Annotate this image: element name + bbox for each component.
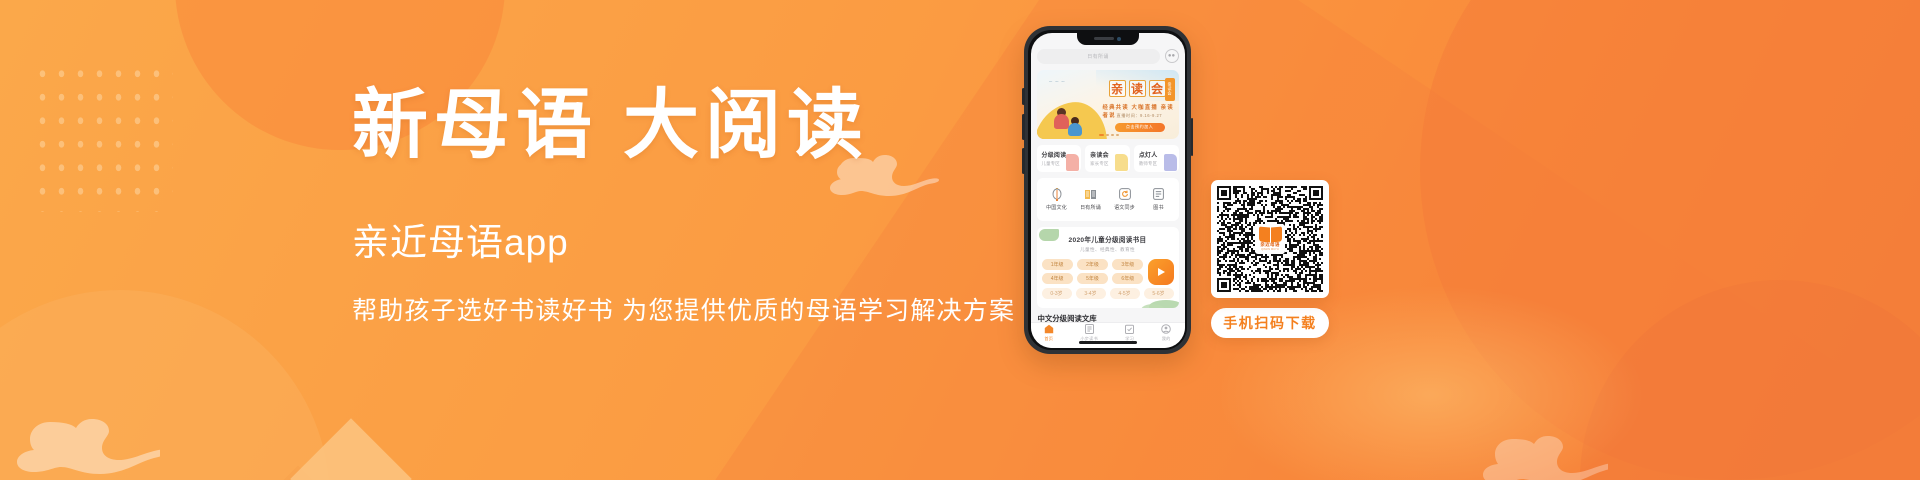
- phone-volume-up-button: [1022, 114, 1025, 140]
- phone-mockup: 日有所诵 ●● ∼∼∼ 亲 读: [1024, 26, 1191, 354]
- open-book-logo-icon: [1259, 227, 1282, 242]
- phone-volume-down-button: [1022, 148, 1025, 174]
- message-icon[interactable]: ●●: [1165, 49, 1179, 63]
- dot-grid-decoration: [33, 62, 173, 212]
- book-red-icon: [1066, 154, 1079, 171]
- play-video-icon[interactable]: [1148, 259, 1174, 285]
- quick-icon-row: 中国文化 日有所诵 语文同步: [1037, 178, 1179, 221]
- promo-title: 亲 读 会: [1109, 80, 1166, 97]
- refresh-square-icon: [1118, 187, 1132, 201]
- brand-name-cn: 亲近母语: [1260, 243, 1280, 248]
- search-input[interactable]: 日有所诵: [1037, 49, 1160, 64]
- age-tag[interactable]: 4-5岁: [1110, 288, 1140, 299]
- booklist-subtitle: 儿童性、经典性、教育性: [1042, 247, 1174, 253]
- promo-banner: 新母语 大阅读 亲近母语app 帮助孩子选好书读好书 为您提供优质的母语学习解决…: [0, 0, 1920, 480]
- lantern-icon: [1050, 187, 1064, 201]
- app-search-row: 日有所诵 ●●: [1037, 49, 1179, 64]
- phone-notch: [1077, 33, 1139, 45]
- home-icon: [1044, 324, 1054, 334]
- promo-side-tag: 亲读会: [1165, 78, 1175, 101]
- book-yellow-icon: [1115, 154, 1128, 171]
- entry-card[interactable]: 亲读会 家长专区: [1085, 145, 1130, 172]
- home-indicator: [1079, 341, 1137, 344]
- phone-screen: 日有所诵 ●● ∼∼∼ 亲 读: [1031, 33, 1185, 348]
- promo-title-char: 亲: [1109, 80, 1126, 97]
- quick-icon-item[interactable]: 中国文化: [1040, 187, 1074, 211]
- grade-tag[interactable]: 6年级: [1112, 273, 1143, 284]
- promo-title-char: 会: [1149, 80, 1166, 97]
- qr-code[interactable]: 亲近母语 QINJIN MUYU: [1211, 180, 1329, 298]
- tab-home[interactable]: 首页: [1044, 324, 1054, 342]
- cloud-decoration-icon: [1478, 434, 1608, 480]
- carousel-dots[interactable]: [1099, 134, 1119, 136]
- hero-copy: 新母语 大阅读 亲近母语app 帮助孩子选好书读好书 为您提供优质的母语学习解决…: [352, 88, 1012, 324]
- tab-label: 我的: [1162, 336, 1171, 342]
- open-book-icon: [1084, 187, 1098, 201]
- download-button[interactable]: 手机扫码下载: [1211, 308, 1329, 338]
- booklist-card: 2020年儿童分级阅读书目 儿童性、经典性、教育性 1年级 2年级 3年级 4年…: [1037, 227, 1179, 309]
- promo-join-button[interactable]: 点击预约加入: [1115, 123, 1165, 132]
- brand-logo: 亲近母语 QINJIN MUYU: [1255, 224, 1285, 254]
- promo-date: 直播时间：9.16-9.27: [1117, 113, 1163, 119]
- promo-title-char: 读: [1129, 80, 1146, 97]
- phone-power-button: [1191, 118, 1194, 156]
- study-check-icon: [1125, 324, 1135, 334]
- grade-tag[interactable]: 1年级: [1042, 259, 1073, 270]
- tab-profile[interactable]: 我的: [1161, 324, 1171, 342]
- library-section-title: 中文分级阅读文库: [1038, 313, 1179, 322]
- booklist-title: 2020年儿童分级阅读书目: [1042, 234, 1174, 244]
- quick-icon-label: 中国文化: [1046, 204, 1067, 211]
- age-tag[interactable]: 3-4岁: [1076, 288, 1106, 299]
- age-tag[interactable]: 5-6岁: [1144, 288, 1174, 299]
- download-block: 亲近母语 QINJIN MUYU 手机扫码下载: [1211, 180, 1329, 338]
- cloud-decoration-icon: [10, 416, 160, 476]
- entry-card[interactable]: 分级阅读 儿童专区: [1037, 145, 1082, 172]
- app-name: 亲近母语app: [352, 224, 1012, 261]
- tab-study[interactable]: 学习: [1125, 324, 1135, 342]
- grade-tag[interactable]: 2年级: [1077, 259, 1108, 270]
- user-icon: [1161, 324, 1171, 334]
- age-row: 0-3岁 3-4岁 4-5岁 5-6岁: [1042, 288, 1174, 299]
- reading-icon: [1084, 324, 1094, 334]
- hero-tagline: 帮助孩子选好书读好书 为您提供优质的母语学习解决方案: [352, 299, 1012, 324]
- quick-icon-label: 语文同步: [1114, 204, 1135, 211]
- page-title: 新母语 大阅读: [352, 88, 1012, 164]
- search-placeholder: 日有所诵: [1087, 53, 1109, 60]
- birds-icon: ∼∼∼: [1049, 79, 1068, 85]
- app-promo-banner[interactable]: ∼∼∼ 亲 读 会 亲读会 经典共读 大咖直播 亲读者说 直播时间：9.16-9: [1037, 70, 1179, 139]
- quick-icon-item[interactable]: 图书: [1142, 187, 1176, 211]
- book-purple-icon: [1164, 154, 1177, 171]
- entry-card-row: 分级阅读 儿童专区 亲读会 家长专区 点灯人 教师专区: [1037, 145, 1179, 172]
- phone-mute-switch: [1022, 88, 1025, 105]
- age-tag[interactable]: 0-3岁: [1042, 288, 1072, 299]
- grade-tag[interactable]: 3年级: [1112, 259, 1143, 270]
- tab-reading[interactable]: 小步读书: [1080, 324, 1098, 342]
- grade-tag[interactable]: 4年级: [1042, 273, 1073, 284]
- entry-card[interactable]: 点灯人 教师专区: [1134, 145, 1179, 172]
- download-button-label: 手机扫码下载: [1223, 313, 1317, 333]
- quick-icon-item[interactable]: 日有所诵: [1074, 187, 1108, 211]
- book-list-icon: [1152, 187, 1166, 201]
- quick-icon-item[interactable]: 语文同步: [1108, 187, 1142, 211]
- quick-icon-label: 日有所诵: [1080, 204, 1101, 211]
- grade-tag[interactable]: 5年级: [1077, 273, 1108, 284]
- brand-name-en: QINJIN MUYU: [1261, 249, 1279, 251]
- quick-icon-label: 图书: [1153, 204, 1163, 211]
- leaf-decoration-icon: [1141, 304, 1165, 308]
- tab-label: 首页: [1044, 336, 1053, 342]
